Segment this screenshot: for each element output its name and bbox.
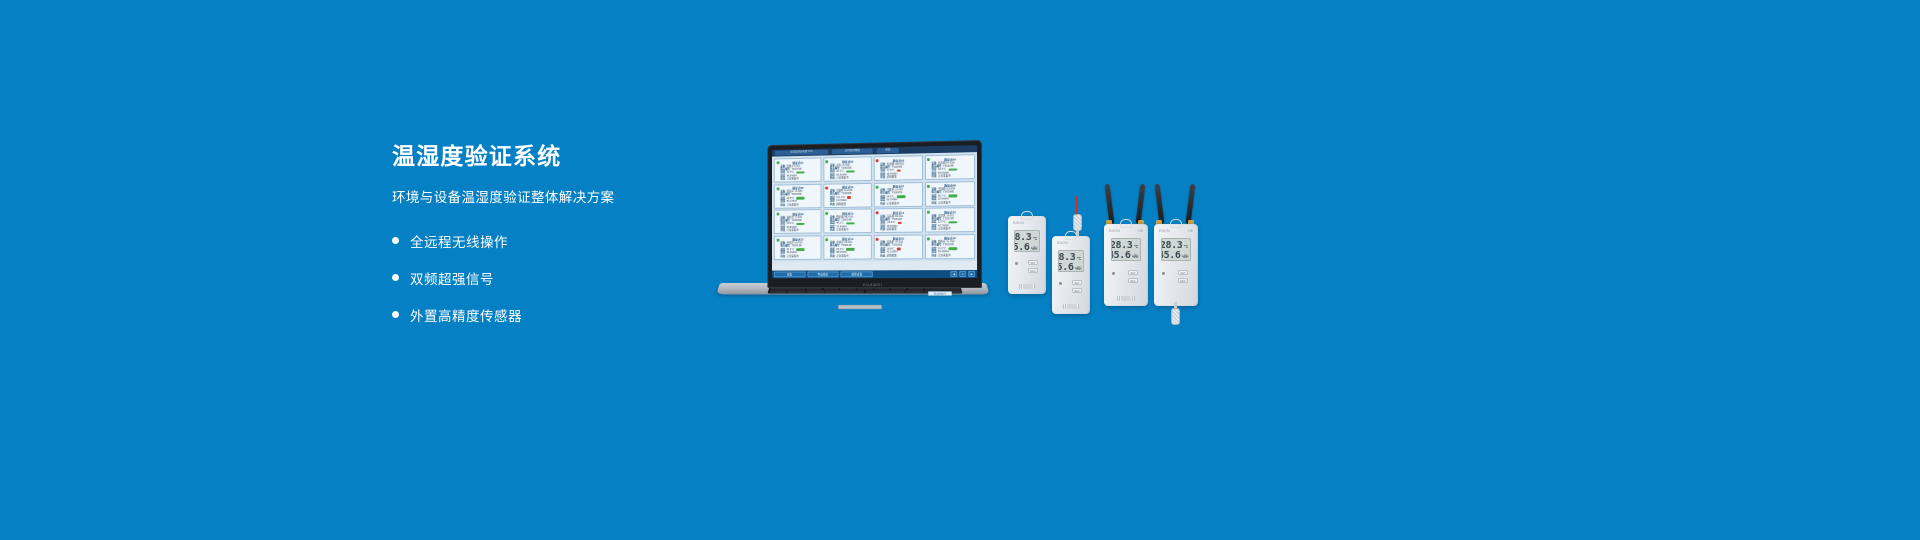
card-row-key: 状态 <box>830 229 835 232</box>
lcd-temperature-line: 28.3 ℃ <box>1114 241 1138 251</box>
device-brand-left: ENON <box>1013 221 1024 225</box>
card-row-key: 状态 <box>931 201 936 204</box>
lcd-humidity-unit: %RH <box>1031 246 1037 251</box>
tab-alarm[interactable]: 报警 <box>877 148 900 153</box>
pager-current-page[interactable]: 1 <box>959 271 966 276</box>
probe-sintered-filter-icon <box>1171 308 1180 325</box>
card-data-row: 状态正常采集中 <box>876 201 920 205</box>
keyboard-key <box>905 290 923 292</box>
ok-indicator-icon <box>796 197 804 200</box>
device-vent-grille <box>1063 304 1079 309</box>
lcd-temperature-value: 28.3 <box>1111 241 1132 251</box>
collect-button[interactable]: 采集 <box>774 272 805 277</box>
lcd-humidity-line: 45.6 %RH <box>1114 251 1138 261</box>
ok-indicator-icon <box>948 247 957 250</box>
card-status-led-icon <box>927 184 930 187</box>
lcd-humidity-value: 45.6 <box>1014 243 1029 253</box>
lcd-temperature-unit: ℃ <box>1077 256 1081 261</box>
card-data-row: 状态正常采集中 <box>928 174 973 178</box>
device-lcd-display: 28.3 ℃ 45.6 %RH REC <box>1014 230 1040 252</box>
lcd-temperature-unit: ℃ <box>1033 236 1037 241</box>
card-data-row: 状态正常采集中 <box>826 228 870 232</box>
keyboard-key <box>857 288 873 290</box>
monitoring-card[interactable]: 验证点12设备洁净区 JJ-012探头编号TS0012B温度22.9°C湿度46… <box>925 207 975 232</box>
ok-indicator-icon <box>897 195 906 198</box>
lcd-temperature-unit: ℃ <box>1184 244 1188 249</box>
feature-item-1: 全远程无线操作 <box>392 228 722 253</box>
monitoring-card[interactable]: 验证点11设备冻存箱 DC-011探头编号TS0011B温度-20.6°C湿度3… <box>874 208 924 233</box>
device-led-indicator <box>1162 272 1165 275</box>
card-row-value: 正常采集中 <box>787 255 799 258</box>
page-title: 温湿度验证系统 <box>392 143 722 171</box>
feature-item-3: 外置高精度传感器 <box>392 302 722 327</box>
card-status-led-icon <box>826 238 829 241</box>
card-row-key: 状态 <box>880 254 885 257</box>
card-row-key: 状态 <box>830 203 835 206</box>
ok-indicator-icon <box>846 222 855 225</box>
card-data-row: 状态超限报警 <box>826 202 870 206</box>
card-status-led-icon <box>776 238 779 241</box>
keyboard-key <box>807 290 825 292</box>
card-data-row: 状态超限报警 <box>876 254 920 258</box>
monitoring-card[interactable]: 验证点13设备老化房 LH-013探头编号TS0013B温度55.3°C湿度38… <box>774 235 822 260</box>
lcd-humidity-unit: %RH <box>1075 266 1081 271</box>
monitoring-card[interactable]: 验证点04设备培养箱 PY-004探头编号TS0004B温度28.3°C湿度45… <box>925 154 975 180</box>
device-probe-logger: ENON 28.3 ℃ 45.6 %RH REC SET REC <box>1052 236 1090 314</box>
card-status-led-icon <box>776 213 779 216</box>
export-report-button[interactable]: 导出报表 <box>807 272 839 277</box>
card-status-led-icon <box>927 237 930 240</box>
lcd-humidity-line: 45.6 %RH <box>1061 263 1081 273</box>
monitoring-card[interactable]: 验证点15设备药品柜 YP-015探头编号TS0015B温度26.8°C湿度42… <box>874 234 924 259</box>
card-row-key: 状态 <box>931 254 936 257</box>
keyboard-key <box>823 288 839 290</box>
device-brand-left: ENON <box>1159 229 1170 233</box>
device-brand-left: ENON <box>1109 229 1120 233</box>
monitoring-card[interactable]: 验证点14设备中转库 ZZ-014探头编号TS0014B温度18.4°C湿度58… <box>823 234 872 259</box>
hanging-loop-icon <box>1021 211 1033 220</box>
keyboard-key <box>788 290 806 292</box>
device-brand: ENON <box>1052 241 1090 245</box>
card-row-value: 正常采集中 <box>836 228 848 231</box>
page-subtitle: 环境与设备温湿度验证整体解决方案 <box>392 189 722 207</box>
card-status-led-icon <box>876 159 879 162</box>
card-row-value: 正常采集中 <box>887 202 900 206</box>
lcd-humidity-unit: %RH <box>1132 254 1138 259</box>
keyboard-key <box>925 288 960 290</box>
card-row-key: 状态 <box>830 254 835 257</box>
monitoring-card[interactable]: 验证点10设备稳定箱 WD-010探头编号TS0010B温度40.1°C湿度75… <box>823 208 872 233</box>
device-wireless-validator: ENON H8 28.3 ℃ 45.6 %RH REC SET REC <box>1104 224 1148 306</box>
device-brand: ENON H8 <box>1104 229 1148 233</box>
card-row-key: 状态 <box>880 228 885 231</box>
device-vent-grille <box>1117 296 1135 301</box>
laptop-sticker: 验证软件 <box>928 291 952 295</box>
device-rec-button[interactable]: REC <box>1028 268 1038 273</box>
card-status-led-icon <box>826 186 829 189</box>
keyboard-key <box>806 288 822 290</box>
lcd-humidity-line: 45.6 %RH <box>1017 243 1037 253</box>
card-row-key: 状态 <box>830 177 835 180</box>
monitoring-card[interactable]: 验证点08设备干燥箱 GZ-008探头编号TS0008B温度60.7°C湿度20… <box>925 181 975 207</box>
card-row-value: 正常采集中 <box>787 203 799 206</box>
device-led-indicator <box>1059 282 1062 285</box>
device-lcd-display: 28.3 ℃ 45.6 %RH REC <box>1161 238 1191 261</box>
keyboard-key <box>770 288 805 290</box>
card-status-led-icon <box>927 158 930 161</box>
card-status-led-icon <box>776 187 779 190</box>
antenna-left-icon <box>1155 184 1165 224</box>
card-status-led-icon <box>876 237 879 240</box>
device-vent-grille <box>1019 284 1035 289</box>
card-row-key: 状态 <box>780 178 785 181</box>
card-row-value: 正常采集中 <box>836 177 848 181</box>
bullet-dot-icon <box>392 274 399 281</box>
card-data-row: 状态正常采集中 <box>777 255 820 259</box>
card-row-value: 正常采集中 <box>938 254 951 257</box>
card-data-row: 状态正常采集中 <box>928 254 973 258</box>
lcd-temperature-value: 28.3 <box>1014 233 1031 243</box>
keyboard-key <box>840 288 856 290</box>
tab-realtime-data[interactable]: 实时监控数据 <box>832 149 873 154</box>
monitoring-card[interactable]: 验证点06设备灭菌柜 MJ-006探头编号TS0006B温度121.4°C湿度1… <box>823 182 872 207</box>
app-title: 温湿度验证系统 V3.0 <box>775 150 829 155</box>
card-row-value: 正常采集中 <box>787 229 799 232</box>
lcd-humidity-line: 45.6 %RH <box>1164 251 1188 261</box>
device-brand: ENON H8 <box>1154 229 1198 233</box>
device-lcd-display: 28.3 ℃ 45.6 %RH REC <box>1111 238 1141 261</box>
lcd-temperature-line: 28.3 ℃ <box>1164 241 1188 251</box>
card-row-value: 超限报警 <box>887 254 897 257</box>
card-row-key: 状态 <box>931 175 936 178</box>
card-data-row: 状态超限报警 <box>876 228 920 232</box>
keyboard-key-space <box>866 290 905 292</box>
card-row-value: 正常采集中 <box>938 227 951 231</box>
bullet-dot-icon <box>392 237 399 244</box>
card-row-value: 正常采集中 <box>938 201 951 205</box>
keyboard-key <box>908 288 924 290</box>
feature-list: 全远程无线操作 双频超强信号 外置高精度传感器 <box>392 228 722 327</box>
lcd-temperature-line: 28.3 ℃ <box>1017 233 1037 243</box>
banner-text-block: 温湿度验证系统 环境与设备温湿度验证整体解决方案 全远程无线操作 双频超强信号 … <box>392 143 722 339</box>
device-wireless-probe-validator: ENON H8 28.3 ℃ 45.6 %RH REC SET REC <box>1154 224 1198 306</box>
monitoring-card[interactable]: 验证点01设备烘箱 ZT-001探头编号TS0001B温度25.4°C湿度48.… <box>774 157 822 182</box>
laptop-lid: 温湿度验证系统 V3.0 实时监控数据 报警 验证点01设备烘箱 ZT-001探… <box>767 140 982 288</box>
antenna-right-icon <box>1136 184 1146 224</box>
card-data-row: 状态正常采集中 <box>826 254 870 258</box>
monitoring-card[interactable]: 验证点02设备冷库 LK-002探头编号TS0002B温度06.1°C湿度52.… <box>823 156 872 181</box>
feature-item-2: 双频超强信号 <box>392 265 722 290</box>
lcd-temperature-line: 28.3 ℃ <box>1061 253 1081 263</box>
alarm-indicator-icon <box>847 196 851 199</box>
app-bottom-toolbar: 采集 导出报表 报警设置 ◀ 1 ▶ <box>772 270 977 278</box>
card-row-key: 状态 <box>880 176 885 179</box>
ok-indicator-icon <box>796 248 804 251</box>
card-status-led-icon <box>876 185 879 188</box>
card-data-row: 状态正常采集中 <box>777 177 820 181</box>
card-data-row: 状态超限报警 <box>876 175 920 179</box>
lcd-humidity-unit: %RH <box>1182 254 1188 259</box>
lcd-humidity-value: 45.6 <box>1161 251 1180 261</box>
keyboard-key <box>874 288 890 290</box>
ok-indicator-icon <box>796 223 804 226</box>
card-row-value: 超限报警 <box>887 228 897 231</box>
card-data-row: 状态正常采集中 <box>928 227 973 231</box>
device-set-button[interactable]: SET <box>1028 260 1038 265</box>
device-brand-left: ENON <box>1057 241 1068 245</box>
keyboard-row <box>770 288 960 290</box>
product-banner: 温湿度验证系统 环境与设备温湿度验证整体解决方案 全远程无线操作 双频超强信号 … <box>0 0 1920 540</box>
keyboard-key <box>769 290 787 292</box>
card-row-value: 正常采集中 <box>836 254 848 257</box>
lcd-temperature-value: 28.3 <box>1161 241 1182 251</box>
monitoring-card[interactable]: 验证点09设备留样室 LY-009探头编号TS0009B温度23.2°C湿度50… <box>774 209 822 234</box>
keyboard-key <box>891 288 907 290</box>
lcd-temperature-value: 28.3 <box>1058 253 1075 263</box>
device-lcd-display: 28.3 ℃ 45.6 %RH REC <box>1058 250 1084 272</box>
pager-next-button[interactable]: ▶ <box>968 271 975 277</box>
device-set-button[interactable]: SET <box>1072 280 1082 285</box>
card-row-key: 状态 <box>780 203 785 206</box>
ok-indicator-icon <box>846 248 855 251</box>
monitoring-card-grid: 验证点01设备烘箱 ZT-001探头编号TS0001B温度25.4°C湿度48.… <box>772 152 977 261</box>
pager-prev-button[interactable]: ◀ <box>950 271 957 276</box>
card-row-value: 超限报警 <box>887 176 897 180</box>
probe-sintered-filter-icon <box>1073 214 1082 231</box>
feature-label: 双频超强信号 <box>410 268 494 288</box>
hanging-loop-icon <box>1065 231 1077 240</box>
card-row-value: 正常采集中 <box>938 175 951 179</box>
device-led-indicator <box>1015 262 1018 265</box>
hanging-loop-icon <box>1170 219 1182 228</box>
antenna-right-icon <box>1186 184 1196 224</box>
laptop-screen: 温湿度验证系统 V3.0 实时监控数据 报警 验证点01设备烘箱 ZT-001探… <box>772 145 977 278</box>
lcd-humidity-value: 45.6 <box>1111 251 1130 261</box>
card-row-key: 状态 <box>880 202 885 205</box>
feature-label: 外置高精度传感器 <box>410 305 522 325</box>
device-rec-button[interactable]: REC <box>1072 288 1082 293</box>
laptop-product-image: 验证软件 温湿度验证系统 V3.0 实时监控数据 报警 验证点01设备烘箱 ZT… <box>720 140 988 300</box>
feature-label: 全远程无线操作 <box>410 231 508 251</box>
device-handheld-logger: ENON 28.3 ℃ 45.6 %RH REC SET REC <box>1008 216 1046 294</box>
laptop-brand-logo: HUAWEI <box>767 282 982 287</box>
card-data-row: 状态正常采集中 <box>928 201 973 205</box>
antenna-left-icon <box>1105 184 1115 224</box>
ok-indicator-icon <box>948 221 957 224</box>
device-brand-right: H8 <box>1188 229 1193 233</box>
monitoring-card[interactable]: 验证点03设备恒温箱 HW-003探头编号TS0003B温度37.0°C湿度45… <box>874 155 924 181</box>
device-led-indicator <box>1112 272 1115 275</box>
device-set-button[interactable]: SET <box>1178 270 1188 275</box>
card-data-row: 状态正常采集中 <box>826 176 870 180</box>
keyboard-key-space <box>826 290 865 292</box>
card-data-row: 状态正常采集中 <box>777 203 820 207</box>
card-row-key: 状态 <box>780 255 785 258</box>
device-rec-button[interactable]: REC <box>1128 278 1138 283</box>
card-data-row: 状态正常采集中 <box>777 229 820 233</box>
device-set-button[interactable]: SET <box>1128 270 1138 275</box>
card-status-led-icon <box>776 161 779 164</box>
bullet-dot-icon <box>392 311 399 318</box>
card-status-led-icon <box>927 211 930 214</box>
card-row-value: 正常采集中 <box>787 177 799 181</box>
monitoring-card[interactable]: 验证点07设备冷藏车 LC-007探头编号TS0007B温度04.5°C湿度60… <box>874 182 924 207</box>
ok-indicator-icon <box>948 195 957 198</box>
alarm-indicator-icon <box>898 222 902 225</box>
device-brand: ENON <box>1008 221 1046 225</box>
card-row-key: 状态 <box>780 229 785 232</box>
monitoring-card[interactable]: 验证点05设备阴凉库 YL-005探头编号TS0005B温度19.8°C湿度55… <box>774 183 822 208</box>
monitoring-card[interactable]: 验证点16设备原料库 YL-016探头编号TS0016B温度21.5°C湿度53… <box>925 234 975 259</box>
lcd-humidity-value: 45.6 <box>1058 263 1073 273</box>
card-status-led-icon <box>876 211 879 214</box>
card-row-key: 状态 <box>931 228 936 231</box>
card-row-value: 超限报警 <box>836 203 846 206</box>
device-rec-button[interactable]: REC <box>1178 278 1188 283</box>
hanging-loop-icon <box>1120 219 1132 228</box>
lcd-temperature-unit: ℃ <box>1134 244 1138 249</box>
alarm-settings-button[interactable]: 报警设置 <box>841 272 873 277</box>
laptop-trackpad <box>838 305 882 309</box>
device-brand-right: H8 <box>1138 229 1143 233</box>
